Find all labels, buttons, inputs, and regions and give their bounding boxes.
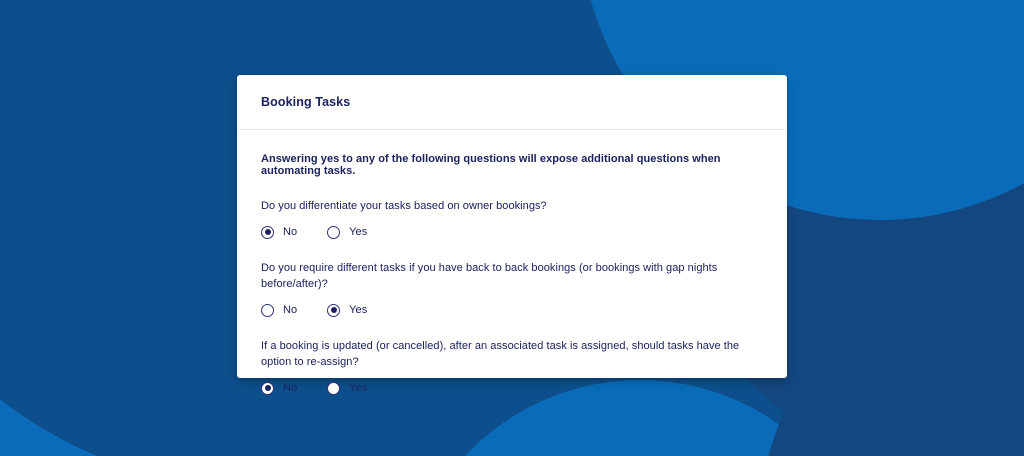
options-row: No Yes [261,226,763,239]
radio-option-no[interactable]: No [261,382,297,395]
question-block: If a booking is updated (or cancelled), … [261,339,763,395]
radio-option-yes[interactable]: Yes [327,304,367,317]
radio-icon-selected[interactable] [261,382,274,395]
question-block: Do you require different tasks if you ha… [261,261,763,317]
radio-option-no[interactable]: No [261,226,297,239]
radio-option-label: No [283,226,297,238]
radio-icon-unselected[interactable] [261,304,274,317]
radio-icon-unselected[interactable] [327,226,340,239]
card-body: Answering yes to any of the following qu… [237,130,787,415]
radio-icon-unselected[interactable] [327,382,340,395]
radio-option-label: Yes [349,382,367,394]
page-title: Booking Tasks [261,95,350,109]
question-text: If a booking is updated (or cancelled), … [261,339,751,371]
intro-text: Answering yes to any of the following qu… [261,153,763,177]
radio-icon-selected[interactable] [327,304,340,317]
booking-tasks-card: Booking Tasks Answering yes to any of th… [237,75,787,378]
question-text: Do you require different tasks if you ha… [261,261,751,293]
question-text: Do you differentiate your tasks based on… [261,199,751,215]
radio-option-label: Yes [349,304,367,316]
options-row: No Yes [261,304,763,317]
radio-option-yes[interactable]: Yes [327,226,367,239]
radio-option-label: No [283,382,297,394]
question-block: Do you differentiate your tasks based on… [261,199,763,239]
options-row: No Yes [261,382,763,395]
radio-option-no[interactable]: No [261,304,297,317]
radio-option-yes[interactable]: Yes [327,382,367,395]
radio-option-label: Yes [349,226,367,238]
radio-icon-selected[interactable] [261,226,274,239]
radio-option-label: No [283,304,297,316]
card-header: Booking Tasks [237,75,787,130]
